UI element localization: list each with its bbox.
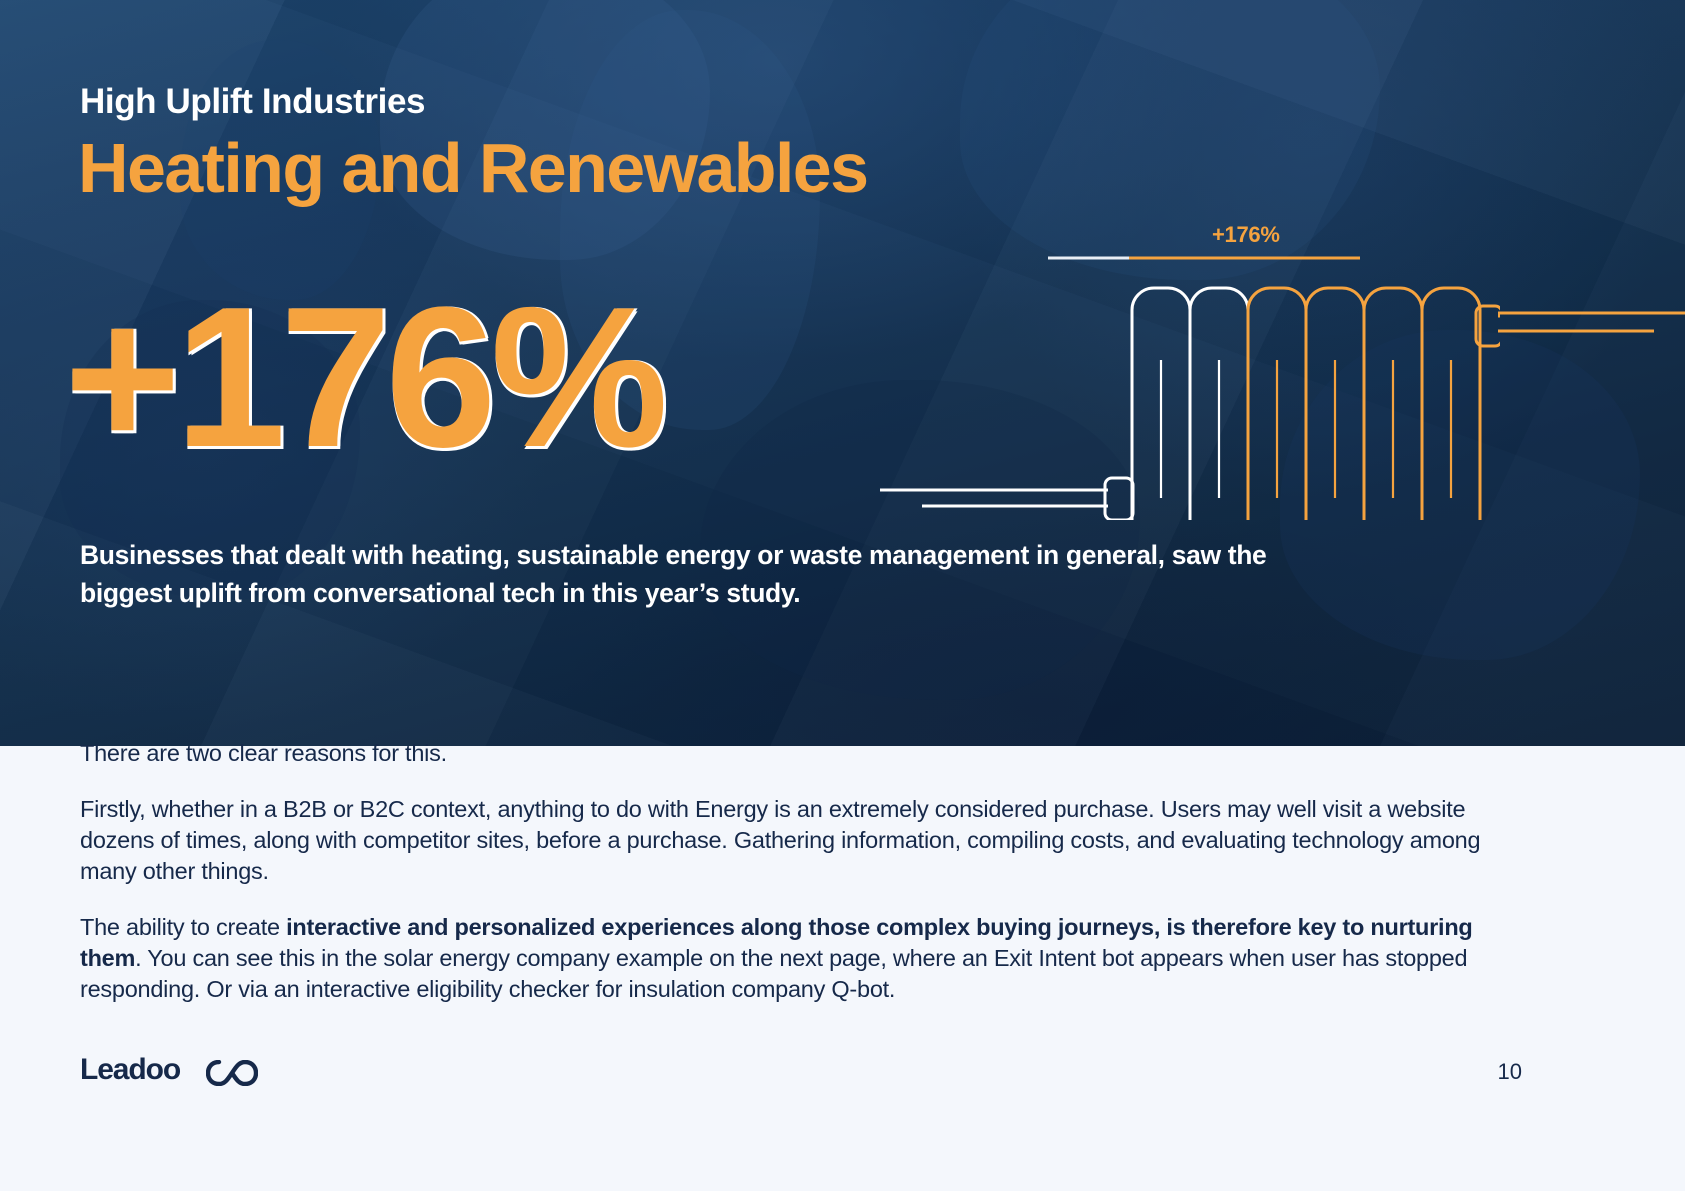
- radiator-fins-uplift: [1248, 288, 1480, 520]
- leadoo-logo: Leadoo: [80, 1055, 180, 1085]
- slide-root: High Uplift Industries Heating and Renew…: [0, 0, 1685, 1191]
- radiator-right-pipes-extension: [1498, 305, 1685, 341]
- radiator-fins-baseline: [1132, 288, 1248, 520]
- leadoo-wordmark: Leadoo: [80, 1055, 180, 1085]
- radiator-left-pipes: [880, 490, 1108, 506]
- big-stat-value: +176%: [64, 278, 662, 478]
- emphasis-text: interactive and personalized experiences…: [80, 914, 1473, 971]
- page-title: Heating and Renewables: [78, 128, 867, 208]
- leadoo-infinity-chat-icon: [206, 1060, 258, 1086]
- page-number: 10: [1462, 1059, 1522, 1085]
- body-paragraph-3: The ability to create interactive and pe…: [80, 912, 1500, 1005]
- body-paragraph-1: There are two clear reasons for this.: [80, 738, 1500, 769]
- eyebrow-label: High Uplift Industries: [80, 82, 425, 122]
- body-section: There are two clear reasons for this. Fi…: [80, 738, 1500, 1005]
- hero-subcopy: Businesses that dealt with heating, sust…: [80, 536, 1340, 612]
- radiator-left-valve: [1105, 478, 1133, 520]
- radiator-illustration: [800, 210, 1500, 520]
- hero-section: High Uplift Industries Heating and Renew…: [0, 0, 1685, 746]
- body-paragraph-2: Firstly, whether in a B2B or B2C context…: [80, 794, 1500, 887]
